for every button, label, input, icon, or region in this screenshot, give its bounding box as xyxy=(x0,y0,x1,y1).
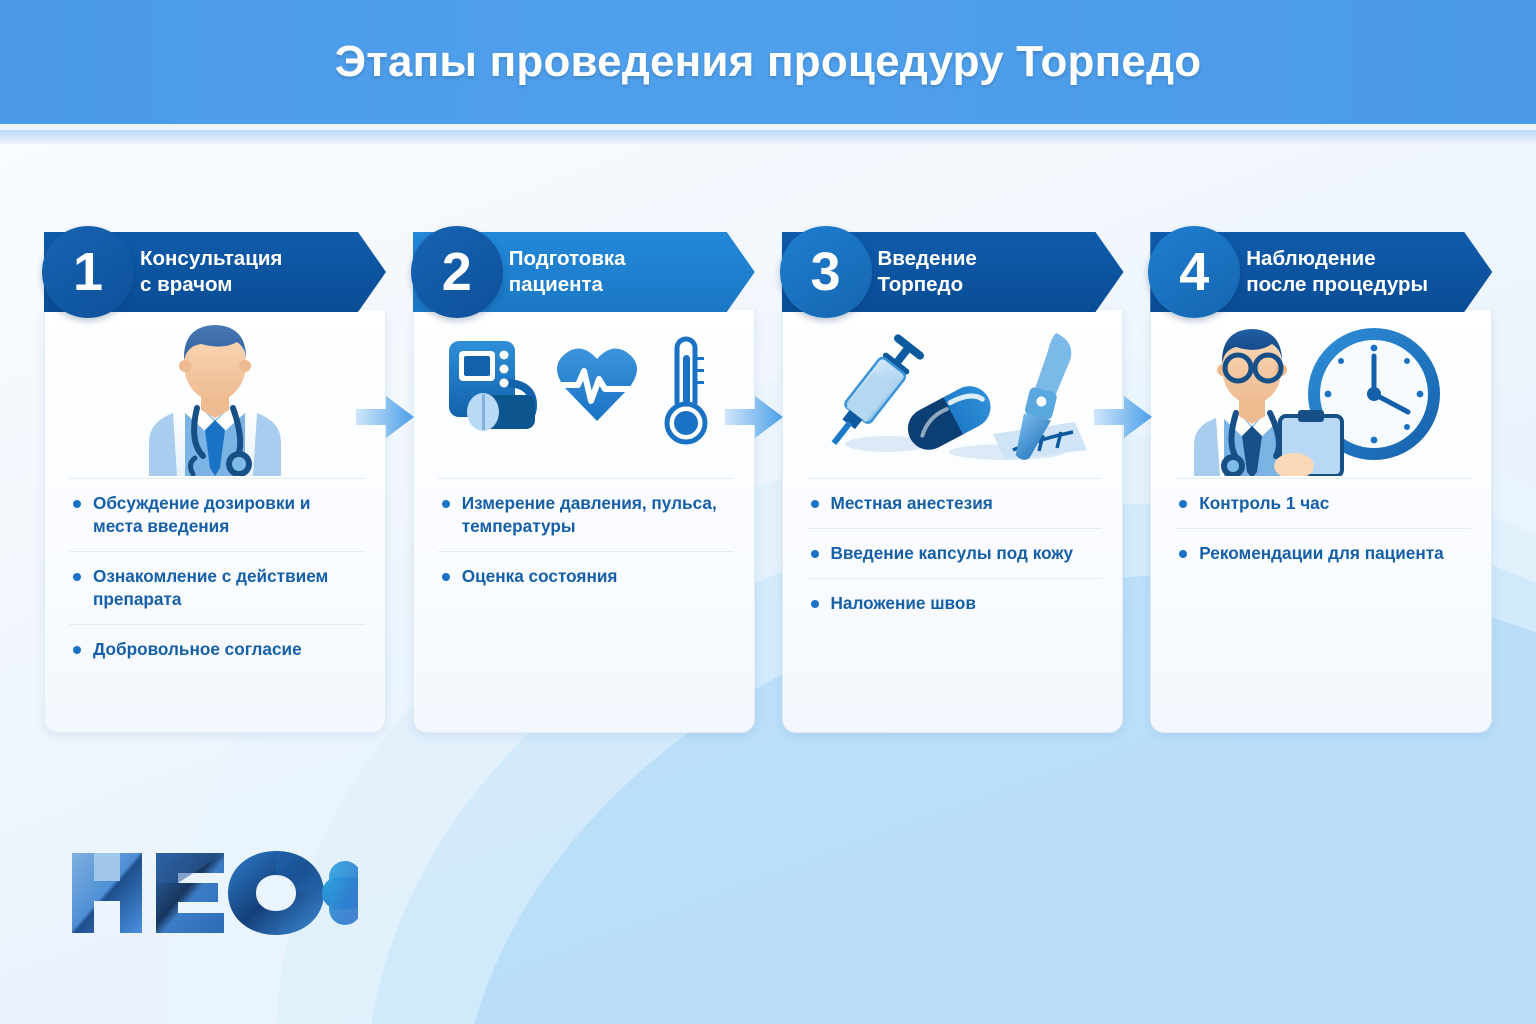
step-number-4: 4 xyxy=(1179,245,1209,299)
step-title-3-line1: Введение xyxy=(878,246,1098,272)
step-number-badge-1: 1 xyxy=(42,226,134,318)
step-title-4-line1: Наблюдение xyxy=(1246,246,1466,272)
doctor-avatar-icon xyxy=(45,310,385,478)
vitals-monitor-icons xyxy=(414,310,754,478)
step-title-4-line2: после процедуры xyxy=(1246,272,1466,298)
step-title-2-line2: пациента xyxy=(509,272,729,298)
bullet-list-4: Контроль 1 час Рекомендации для пациента xyxy=(1151,478,1491,578)
list-item: Ознакомление с действием препарата xyxy=(69,551,365,624)
step-card-4[interactable]: 4 Наблюдение после процедуры xyxy=(1150,232,1492,733)
list-item: Рекомендации для пациента xyxy=(1175,528,1471,578)
step-header-4: 4 Наблюдение после процедуры xyxy=(1150,232,1492,312)
arrow-step3-to-step4 xyxy=(1094,392,1152,442)
list-item: Контроль 1 час xyxy=(1175,478,1471,528)
step-number-badge-3: 3 xyxy=(780,226,872,318)
list-item: Добровольное согласие xyxy=(69,624,365,674)
arrow-step2-to-step3 xyxy=(725,392,783,442)
step-header-1: 1 Консультация с врачом xyxy=(44,232,386,312)
list-item: Местная анестезия xyxy=(807,478,1103,528)
step-body-4: Контроль 1 час Рекомендации для пациента xyxy=(1150,310,1492,733)
list-item: Измерение давления, пульса, температуры xyxy=(438,478,734,551)
step-number-3: 3 xyxy=(810,245,840,299)
step-card-2[interactable]: 2 Подготовка пациента xyxy=(413,232,755,733)
steps-row: 1 Консультация с врачом xyxy=(44,232,1492,733)
infographic-canvas: Этапы проведения процедуру Торпедо xyxy=(0,0,1536,1024)
step-title-3-line2: Торпедо xyxy=(878,272,1098,298)
step-body-3: Местная анестезия Введение капсулы под к… xyxy=(782,310,1124,733)
step-body-2: Измерение давления, пульса, температуры … xyxy=(413,310,755,733)
list-item: Введение капсулы под кожу xyxy=(807,528,1103,578)
step-title-1: Консультация с врачом xyxy=(140,232,360,312)
step-header-2: 2 Подготовка пациента xyxy=(413,232,755,312)
step-title-1-line2: с врачом xyxy=(140,272,360,298)
list-item: Обсуждение дозировки и места введения xyxy=(69,478,365,551)
step-card-1[interactable]: 1 Консультация с врачом xyxy=(44,232,386,733)
list-item: Оценка состояния xyxy=(438,551,734,601)
step-title-4: Наблюдение после процедуры xyxy=(1246,232,1466,312)
syringe-capsule-scalpel-icons xyxy=(783,310,1123,478)
arrow-step1-to-step2 xyxy=(356,392,414,442)
step-number-2: 2 xyxy=(442,245,472,299)
step-title-2: Подготовка пациента xyxy=(509,232,729,312)
step-title-1-line1: Консультация xyxy=(140,246,360,272)
step-body-1: Обсуждение дозировки и места введения Оз… xyxy=(44,310,386,733)
page-title: Этапы проведения процедуру Торпедо xyxy=(335,37,1202,87)
step-number-badge-2: 2 xyxy=(411,226,503,318)
list-item: Наложение швов xyxy=(807,578,1103,628)
step-card-3[interactable]: 3 Введение Торпедо xyxy=(782,232,1124,733)
bullet-list-2: Измерение давления, пульса, температуры … xyxy=(414,478,754,601)
bullet-list-1: Обсуждение дозировки и места введения Оз… xyxy=(45,478,385,674)
title-underband-gradient xyxy=(0,130,1536,144)
bullet-list-3: Местная анестезия Введение капсулы под к… xyxy=(783,478,1123,628)
doctor-clipboard-clock-icon xyxy=(1151,310,1491,478)
step-title-2-line1: Подготовка xyxy=(509,246,729,272)
brand-logo xyxy=(68,847,358,944)
step-number-badge-4: 4 xyxy=(1148,226,1240,318)
step-number-1: 1 xyxy=(73,245,103,299)
title-band: Этапы проведения процедуру Торпедо xyxy=(0,0,1536,124)
step-title-3: Введение Торпедо xyxy=(878,232,1098,312)
step-header-3: 3 Введение Торпедо xyxy=(782,232,1124,312)
